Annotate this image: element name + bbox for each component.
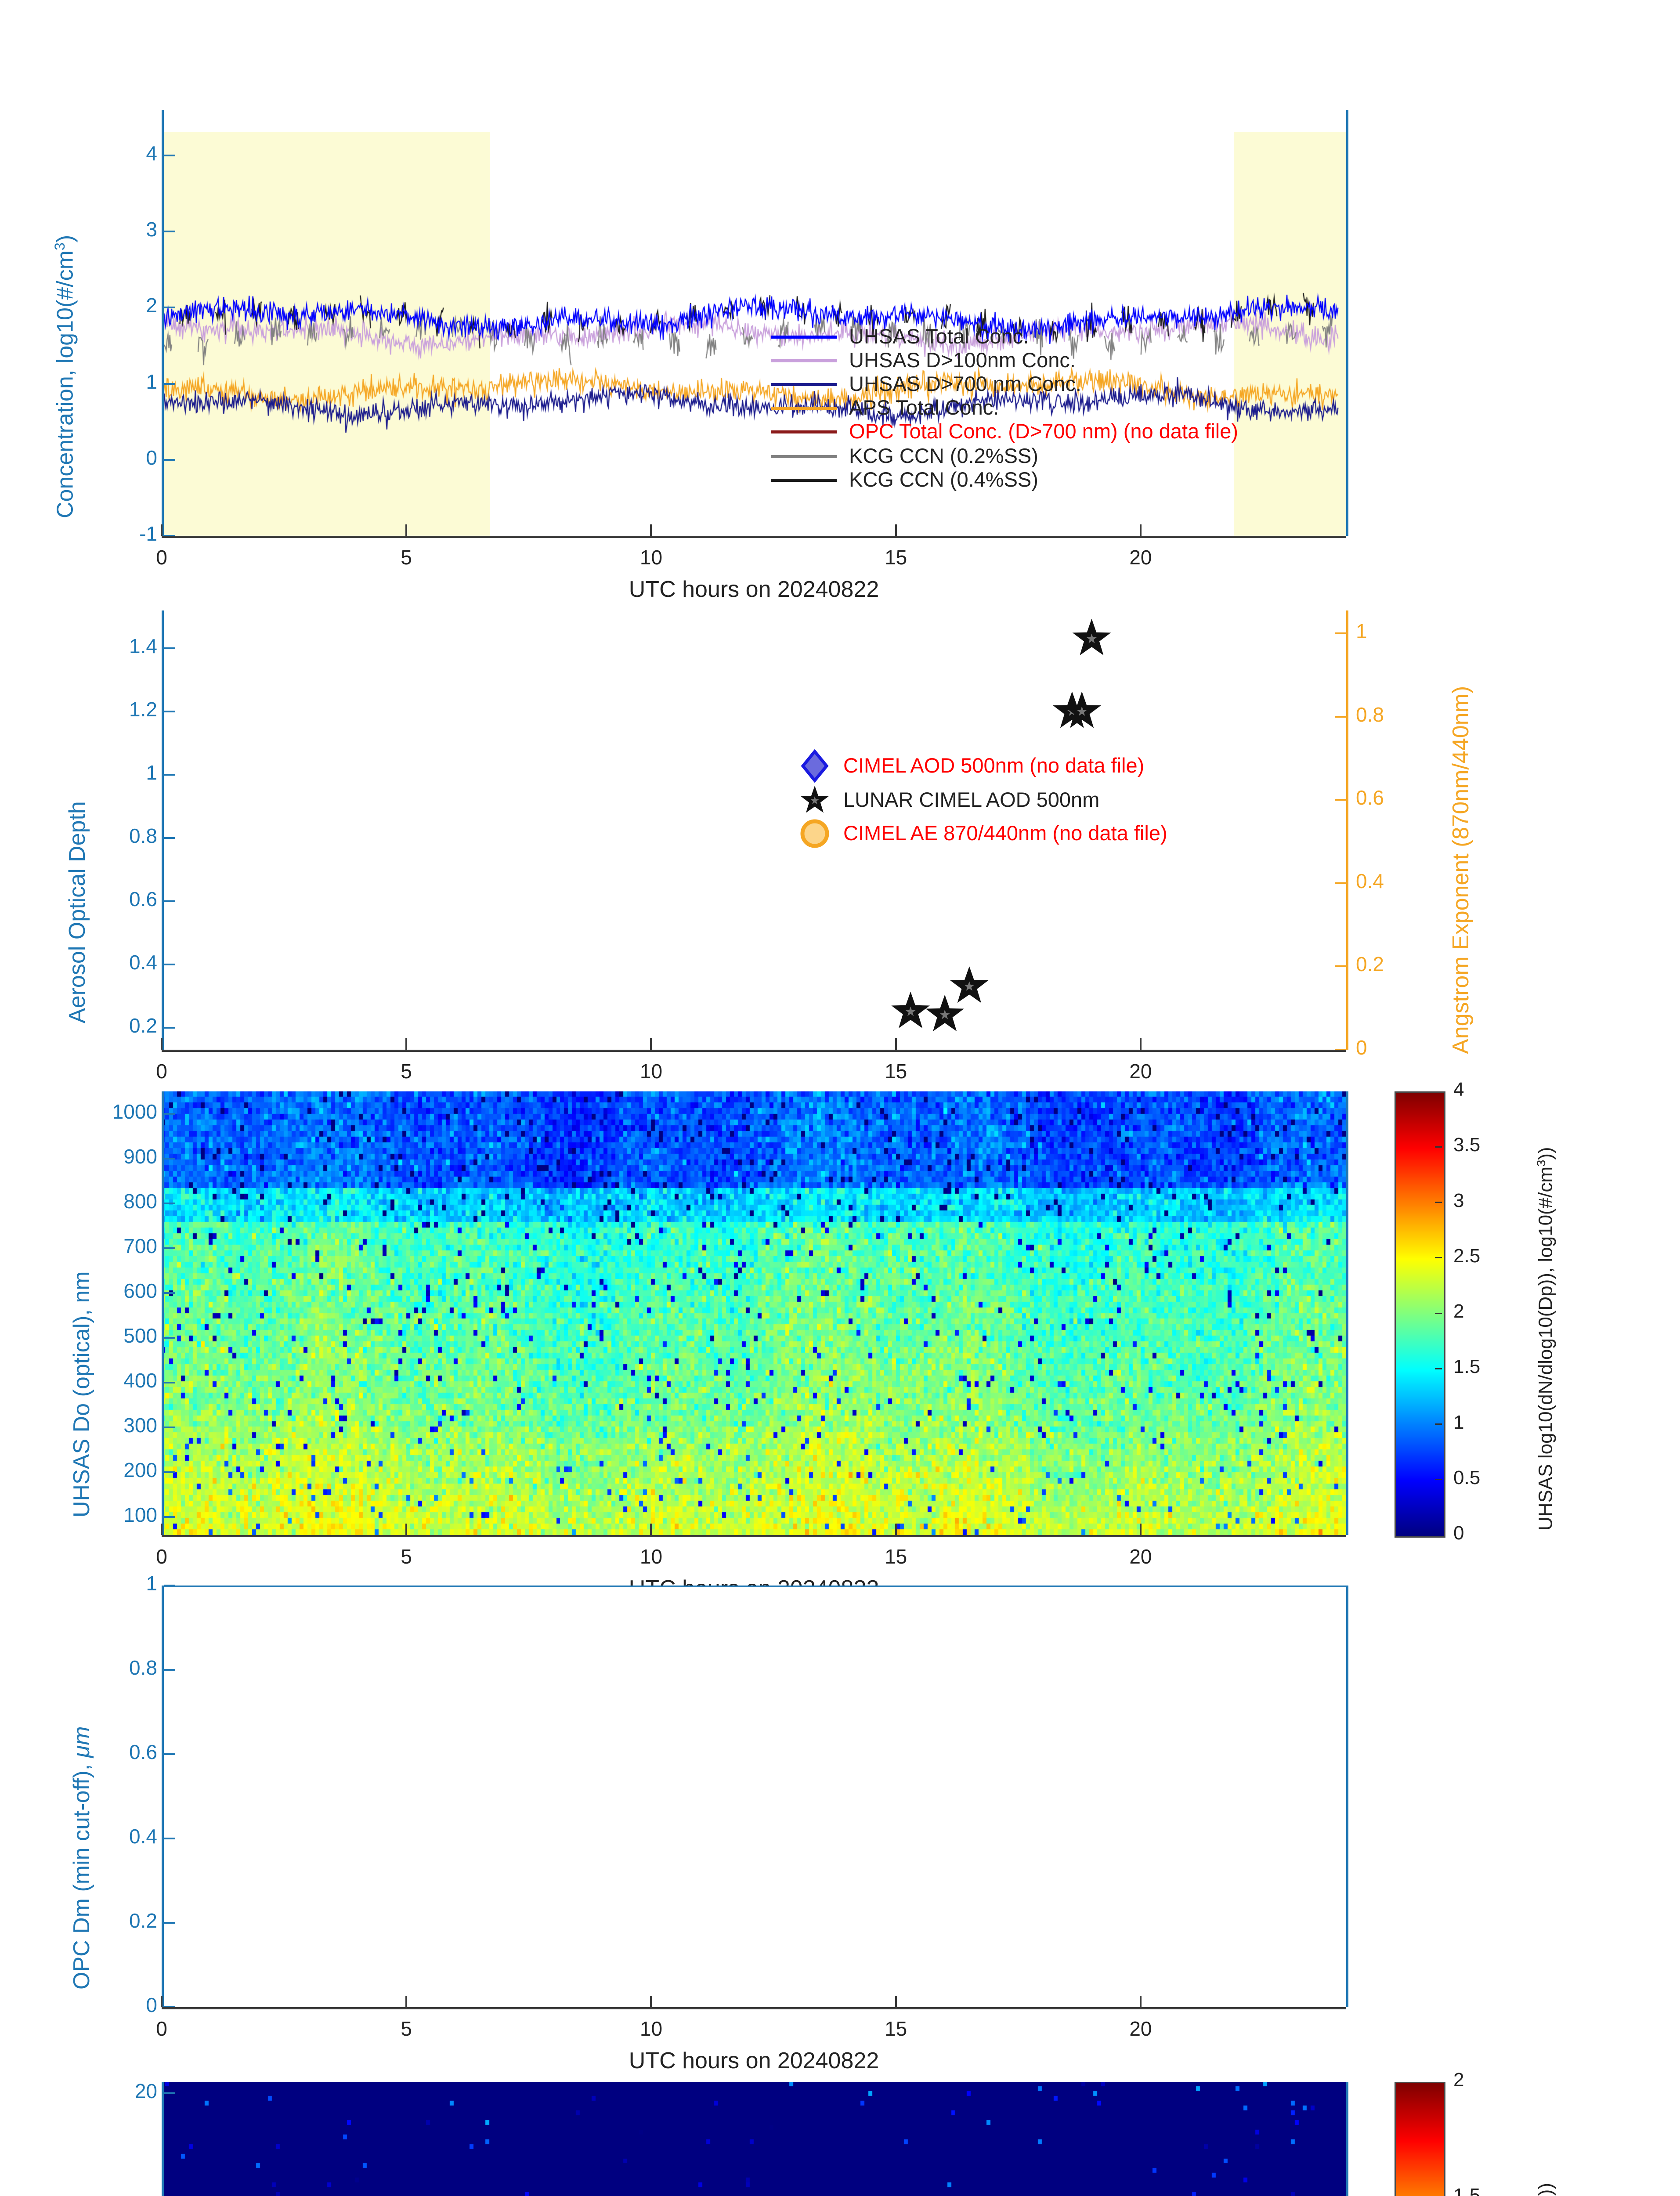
uhsas-colorbar-gradient	[1395, 1091, 1445, 1538]
legend-item: KCG CCN (0.4%SS)	[771, 468, 1320, 492]
panel-opc-empty: 00.20.40.60.8105101520UTC hours on 20240…	[0, 1564, 1680, 2047]
uhsas-colorbar-tick	[1435, 1368, 1442, 1369]
legend-label: UHSAS D>700 nm Conc.	[849, 372, 1081, 395]
uhsas-colorbar-tick-label: 2.5	[1453, 1246, 1480, 1266]
legend-item: OPC Total Conc. (D>700 nm) (no data file…	[771, 420, 1320, 444]
y-tick-label: 700	[30, 1236, 157, 1256]
aps-heatmap-image	[162, 2082, 1346, 2196]
x-tick	[895, 524, 897, 536]
x-tick	[895, 1996, 897, 2007]
panel-aps-heatmap: 0510152005101520UTC hours on 20240822APS…	[0, 2060, 1680, 2196]
aps-colorbar-gradient	[1395, 2082, 1445, 2196]
y-tick	[164, 1516, 175, 1518]
y-axis-title-text: OPC Dm (min cut-off),	[69, 1758, 94, 1990]
x-tick	[895, 1524, 897, 1535]
x-tick-label: 5	[380, 547, 433, 567]
uhsas-colorbar-tick-label: 1.5	[1453, 1357, 1480, 1376]
uhsas-colorbar-title-tail: ))	[1535, 1147, 1557, 1159]
y-tick	[164, 1427, 175, 1428]
y-tick-label: 0.8	[30, 1658, 157, 1678]
legend-line-swatch	[771, 383, 837, 386]
x-tick-label: 10	[625, 2019, 677, 2039]
x-tick-label: 20	[1114, 2019, 1167, 2039]
x-tick-label: 15	[870, 547, 922, 567]
x-tick-label: 5	[380, 2019, 433, 2039]
legend-label: CIMEL AOD 500nm (no data file)	[843, 753, 1144, 778]
y-tick-label: 800	[30, 1191, 157, 1211]
x-tick	[650, 1996, 652, 2007]
y-axis-title-text: Concentration, log10(#/cm	[52, 250, 78, 518]
y-tick-label: 15	[30, 2193, 157, 2196]
x-axis-line	[162, 1535, 1346, 1537]
y-axis-line	[162, 2082, 164, 2196]
legend-item: UHSAS D>100nm Conc.	[771, 349, 1320, 372]
legend-label: OPC Total Conc. (D>700 nm) (no data file…	[849, 420, 1238, 443]
y-tick-label: 2	[30, 295, 157, 315]
legend-line-swatch	[771, 455, 837, 458]
y-tick	[164, 1922, 175, 1924]
uhsas-colorbar-tick	[1435, 1479, 1442, 1480]
uhsas-colorbar-tick-label: 4	[1453, 1080, 1464, 1099]
legend-line-swatch	[771, 359, 837, 362]
legend-label: UHSAS Total Conc.	[849, 325, 1029, 348]
x-tick	[161, 524, 163, 536]
x-tick	[405, 1996, 407, 2007]
y-axis-line	[162, 110, 164, 536]
legend-marker-diamond-icon	[791, 749, 839, 783]
legend-label: LUNAR CIMEL AOD 500nm	[843, 787, 1099, 812]
x-tick-label: 20	[1114, 547, 1167, 567]
y-tick-label: 3	[30, 219, 157, 239]
y-tick	[164, 1471, 175, 1473]
x-axis-line	[162, 2007, 1346, 2009]
y-axis-title-exponent: 3	[52, 242, 68, 250]
legend-label: KCG CCN (0.4%SS)	[849, 468, 1038, 491]
uhsas-colorbar-title-exponent: 3	[1534, 1160, 1548, 1167]
panel2-legend: CIMEL AOD 500nm (no data file)LUNAR CIME…	[791, 749, 1362, 851]
uhsas-colorbar-tick-label: 3	[1453, 1191, 1464, 1210]
y-tick-label: -1	[30, 524, 157, 544]
panel-uhsas-heatmap: 100200300400500600700800900100005101520U…	[0, 1076, 1680, 1581]
y-tick-label: 900	[30, 1146, 157, 1167]
legend-item: LUNAR CIMEL AOD 500nm	[791, 783, 1362, 816]
y-tick	[164, 1247, 175, 1249]
legend-marker-circle-icon	[791, 816, 839, 851]
y-axis-title-unit: μm	[69, 1726, 94, 1758]
y-tick	[164, 1292, 175, 1294]
uhsas-colorbar-tick	[1435, 1202, 1442, 1203]
legend-marker-star-icon	[791, 783, 839, 817]
x-tick	[161, 1996, 163, 2007]
aps-colorbar-tick-label: 2	[1453, 2070, 1464, 2090]
y-axis-title: Concentration, log10(#/cm3)	[53, 235, 76, 518]
y-tick-label: 1	[30, 372, 157, 392]
x-tick	[161, 1524, 163, 1535]
uhsas-colorbar-tick-label: 3.5	[1453, 1135, 1480, 1155]
legend-item: CIMEL AE 870/440nm (no data file)	[791, 816, 1362, 851]
y-tick	[164, 1669, 175, 1671]
uhsas-heatmap-image	[162, 1091, 1346, 1535]
right-spine	[1346, 2082, 1348, 2196]
x-tick	[1140, 1996, 1142, 2007]
x-tick	[405, 1524, 407, 1535]
uhsas-colorbar-tick-label: 1	[1453, 1413, 1464, 1432]
y-tick	[164, 2092, 175, 2094]
legend-item: UHSAS Total Conc.	[771, 325, 1320, 349]
uhsas-colorbar-tick-label: 2	[1453, 1302, 1464, 1321]
y-axis-title: OPC Dm (min cut-off), μm	[70, 1726, 93, 1990]
x-tick	[1140, 524, 1142, 536]
y-tick	[164, 1337, 175, 1339]
y-tick	[164, 1382, 175, 1383]
y-tick	[164, 155, 175, 156]
legend-item: KCG CCN (0.2%SS)	[771, 444, 1320, 468]
y-tick	[164, 1753, 175, 1755]
y-axis-line	[162, 1586, 164, 2007]
x-tick	[650, 1524, 652, 1535]
figure-page: -10123405101520UTC hours on 20240822Conc…	[0, 0, 1680, 2196]
legend-item: UHSAS D>700 nm Conc.	[771, 372, 1320, 396]
x-tick	[1140, 1524, 1142, 1535]
right-spine	[1346, 1586, 1348, 2007]
legend-label: KCG CCN (0.2%SS)	[849, 444, 1038, 467]
panel-aod-scatter: 0.20.40.60.811.21.400.20.40.60.810510152…	[0, 593, 1680, 1076]
legend-label: APS Total Conc.	[849, 396, 999, 419]
panel-concentration-timeseries: -10123405101520UTC hours on 20240822Conc…	[0, 0, 1680, 615]
x-axis-line	[162, 536, 1346, 538]
uhsas-colorbar: 00.511.522.533.54UHSAS log10(dN/dlog10(D…	[1395, 1091, 1640, 1535]
legend-item: CIMEL AOD 500nm (no data file)	[791, 749, 1362, 783]
right-spine	[1346, 1091, 1348, 1535]
top-spine	[162, 1586, 1346, 1587]
uhsas-colorbar-title-text: UHSAS log10(dN/dlog10(Dp)), log10(#/cm	[1535, 1167, 1557, 1531]
x-tick-label: 15	[870, 2019, 922, 2039]
right-spine	[1346, 110, 1348, 536]
y-tick-label: 0	[30, 448, 157, 468]
uhsas-colorbar-tick	[1435, 1257, 1442, 1258]
x-tick	[405, 524, 407, 536]
y-tick	[164, 1203, 175, 1204]
aps-colorbar: 00.511.52APS log10(dN/dlog10(Dp)), log10…	[1395, 2082, 1640, 2196]
x-tick-label: 10	[625, 547, 677, 567]
uhsas-colorbar-title: UHSAS log10(dN/dlog10(Dp)), log10(#/cm3)…	[1535, 1147, 1556, 1531]
uhsas-colorbar-tick-label: 0.5	[1453, 1468, 1480, 1488]
x-tick	[650, 524, 652, 536]
y-tick-label: 1	[30, 1573, 157, 1593]
y-tick-label: 4	[30, 143, 157, 163]
legend-line-swatch	[771, 407, 837, 410]
y-tick-label: 0	[30, 1995, 157, 2015]
y-tick	[164, 459, 175, 461]
y-tick	[164, 1838, 175, 1839]
x-tick-label: 0	[135, 547, 188, 567]
y-axis-title: UHSAS Do (optical), nm	[70, 1271, 93, 1517]
y-tick-label: 20	[30, 2081, 157, 2101]
uhsas-colorbar-tick	[1435, 1313, 1442, 1314]
legend-label: UHSAS D>100nm Conc.	[849, 349, 1076, 372]
legend-line-swatch	[771, 479, 837, 482]
y-tick	[164, 1158, 175, 1159]
legend-label: CIMEL AE 870/440nm (no data file)	[843, 821, 1167, 845]
x-tick-label: 0	[135, 2019, 188, 2039]
y-axis-title-tail: )	[52, 235, 78, 242]
y-tick	[164, 383, 175, 385]
panel1-legend: UHSAS Total Conc.UHSAS D>100nm Conc.UHSA…	[771, 325, 1320, 492]
opc-empty-plot-area	[162, 1586, 1346, 2007]
y-tick	[164, 1113, 175, 1115]
y-tick-label: 1000	[30, 1102, 157, 1122]
legend-item: APS Total Conc.	[771, 396, 1320, 420]
aps-colorbar-tick-label: 1.5	[1453, 2186, 1480, 2196]
uhsas-colorbar-tick	[1435, 1423, 1442, 1425]
y-tick	[164, 231, 175, 232]
aps-colorbar-title: APS log10(dN/dlog10(Dp)), log10(#/cm3))	[1535, 2183, 1556, 2196]
legend-line-swatch	[771, 336, 837, 339]
aps-colorbar-title-tail: ))	[1535, 2183, 1557, 2196]
y-tick	[164, 307, 175, 308]
uhsas-colorbar-tick-label: 0	[1453, 1524, 1464, 1543]
uhsas-colorbar-tick	[1435, 1146, 1442, 1148]
legend-line-swatch	[771, 430, 837, 433]
